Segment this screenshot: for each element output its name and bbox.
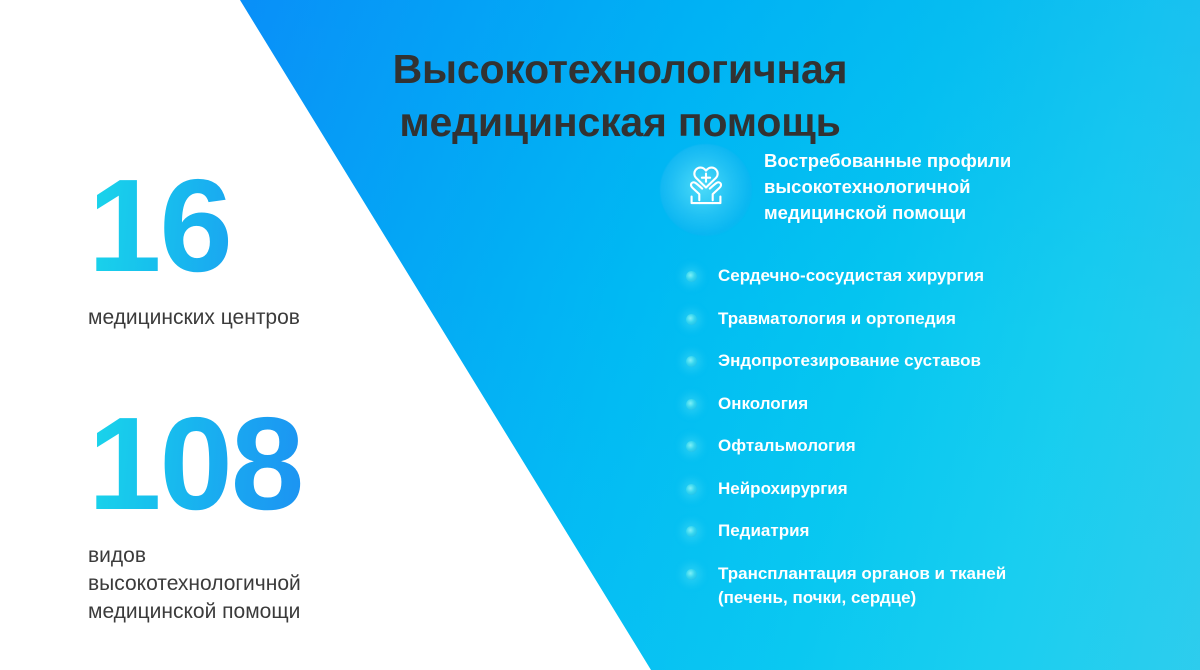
panel-heading-line-1: Востребованные профили <box>764 148 1011 174</box>
list-item-label: Онкология <box>718 392 1006 416</box>
list-item-label: Педиатрия <box>718 519 1006 543</box>
list-item: Транспланта­ция органов и тканей (печень… <box>686 562 1006 610</box>
list-item-label: Травматология и ортопедия <box>718 307 1006 331</box>
bullet-dot-icon <box>686 314 697 325</box>
panel-heading-text: Востребованные профили высокотехнологичн… <box>764 148 1011 226</box>
stat-medical-centers: 16 медицинских центров <box>88 160 300 332</box>
slide-title-line-2: медицинская помощь <box>300 96 940 149</box>
stat-caption-care-types: видов высокотехнологичной медицинской по… <box>88 542 302 626</box>
stat-number-care-types: 108 <box>88 398 302 530</box>
bullet-dot-icon <box>686 484 697 495</box>
bullet-dot-icon <box>686 399 697 410</box>
list-item-label: Офтальмология <box>718 434 1006 458</box>
heart-in-hands-medical-icon <box>660 144 752 236</box>
list-item-label: Эндопротезирование суставов <box>718 349 1006 373</box>
panel-heading: Востребованные профили высокотехнологичн… <box>660 148 1011 236</box>
bullet-dot-icon <box>686 441 697 452</box>
list-item: Нейрохирургия <box>686 477 1006 501</box>
stat-number-medical-centers: 16 <box>88 160 300 292</box>
stat-caption-line: высокотехнологичной <box>88 570 302 598</box>
panel-heading-line-3: медицинской помощи <box>764 200 1011 226</box>
list-item: Сердечно-сосудистая хирургия <box>686 264 1006 288</box>
list-item-label: Нейрохирургия <box>718 477 1006 501</box>
infographic-slide: Высокотехнологичная медицинская помощь 1… <box>0 0 1200 670</box>
list-item: Педиатрия <box>686 519 1006 543</box>
profiles-list: Сердечно-сосудистая хирургия Травматолог… <box>686 264 1006 628</box>
stat-care-types: 108 видов высокотехнологичной медицинско… <box>88 398 302 626</box>
stat-caption-line: видов <box>88 542 302 570</box>
slide-title: Высокотехнологичная медицинская помощь <box>300 43 940 149</box>
slide-title-line-1: Высокотехнологичная <box>300 43 940 96</box>
list-item: Онкология <box>686 392 1006 416</box>
list-item-sublabel: (печень, почки, сердце) <box>718 586 1006 610</box>
list-item: Эндопротезирование суставов <box>686 349 1006 373</box>
bullet-dot-icon <box>686 356 697 367</box>
heart-in-hands-glyph <box>680 164 732 216</box>
stat-caption-medical-centers: медицинских центров <box>88 304 300 332</box>
stat-caption-line: медицинской помощи <box>88 598 302 626</box>
list-item: Травматология и ортопедия <box>686 307 1006 331</box>
bullet-dot-icon <box>686 526 697 537</box>
list-item: Офтальмология <box>686 434 1006 458</box>
list-item-label: Сердечно-сосудистая хирургия <box>718 264 1006 288</box>
bullet-dot-icon <box>686 569 697 580</box>
list-item-label: Транспланта­ция органов и тканей <box>718 562 1006 586</box>
stat-caption-line: медицинских центров <box>88 304 300 332</box>
panel-heading-line-2: высокотехнологичной <box>764 174 1011 200</box>
bullet-dot-icon <box>686 271 697 282</box>
